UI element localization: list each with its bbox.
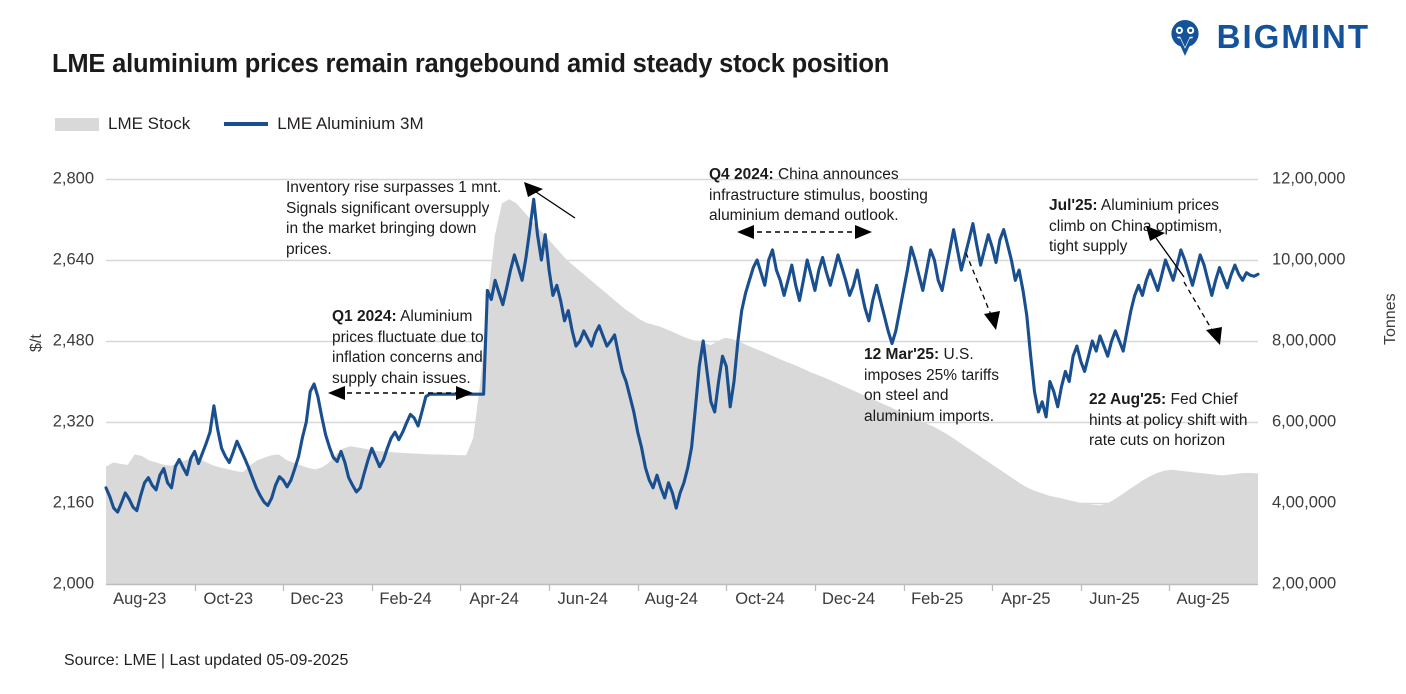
- legend-label-lme-aluminium-3m: LME Aluminium 3M: [277, 114, 423, 134]
- y-axis-right-tick-label: 12,00,000: [1272, 170, 1345, 189]
- annotation-q4-2024: Q4 2024: China announces infrastructure …: [709, 165, 979, 227]
- x-axis-tick-label: Apr-25: [1001, 590, 1051, 609]
- chart-legend: LME Stock LME Aluminium 3M: [55, 114, 424, 134]
- annotation-bold: Q1 2024:: [332, 308, 397, 325]
- legend-label-lme-stock: LME Stock: [108, 114, 190, 134]
- x-axis-tick-label: Aug-23: [113, 590, 166, 609]
- annotation-bold: 22 Aug'25:: [1089, 391, 1166, 408]
- y-axis-left-tick-label: 2,480: [24, 332, 94, 351]
- annotation-line: prices fluctuate due to: [332, 328, 522, 349]
- annotation-line: imposes 25% tariffs: [864, 366, 1039, 387]
- y-axis-left-tick-label: 2,640: [24, 251, 94, 270]
- annotation-line: rate cuts on horizon: [1089, 431, 1284, 452]
- annotation-rest: Fed Chief: [1166, 391, 1238, 408]
- x-axis-tick-label: Apr-24: [469, 590, 519, 609]
- annotation-line: Inventory rise surpasses 1 mnt.: [286, 178, 536, 199]
- x-axis-tick-label: Dec-23: [290, 590, 343, 609]
- annotation-line: aluminium imports.: [864, 407, 1039, 428]
- x-axis-tick-label: Aug-24: [645, 590, 698, 609]
- annotation-line: Q1 2024: Aluminium: [332, 307, 522, 328]
- legend-item-lme-aluminium-3m[interactable]: LME Aluminium 3M: [224, 114, 423, 134]
- x-axis-tick-label: Jun-24: [558, 590, 608, 609]
- legend-area-swatch-icon: [55, 118, 99, 131]
- x-axis-tick-label: Dec-24: [822, 590, 875, 609]
- annotation-q1-2024: Q1 2024: Aluminium prices fluctuate due …: [332, 307, 522, 389]
- annotation-rest: China announces: [774, 166, 899, 183]
- annotation-line: in the market bringing down: [286, 219, 536, 240]
- y-axis-left-tick-label: 2,320: [24, 413, 94, 432]
- legend-item-lme-stock[interactable]: LME Stock: [55, 114, 190, 134]
- x-axis-tick-label: Jun-25: [1089, 590, 1139, 609]
- annotation-line: climb on China optimism,: [1049, 217, 1264, 238]
- annotation-line: aluminium demand outlook.: [709, 206, 979, 227]
- page-title: LME aluminium prices remain rangebound a…: [52, 50, 889, 79]
- annotation-line: prices.: [286, 240, 536, 261]
- annotation-line: inflation concerns and: [332, 348, 522, 369]
- annotation-line: Jul'25: Aluminium prices: [1049, 196, 1264, 217]
- annotation-line: on steel and: [864, 386, 1039, 407]
- y-axis-right-tick-label: 8,00,000: [1272, 332, 1336, 351]
- y-axis-left-tick-label: 2,800: [24, 170, 94, 189]
- annotation-line: 22 Aug'25: Fed Chief: [1089, 390, 1284, 411]
- annotation-bold: Jul'25:: [1049, 197, 1097, 214]
- annotation-line: tight supply: [1049, 237, 1264, 258]
- x-axis-tick-label: Oct-24: [735, 590, 785, 609]
- bigmint-logo-icon: [1165, 16, 1205, 56]
- annotation-inventory-rise: Inventory rise surpasses 1 mnt. Signals …: [286, 178, 536, 260]
- annotation-mar-2025-tariffs: 12 Mar'25: U.S. imposes 25% tariffs on s…: [864, 345, 1039, 427]
- annotation-rest: Aluminium prices: [1097, 197, 1218, 214]
- legend-line-swatch-icon: [224, 122, 268, 126]
- annotation-line: Q4 2024: China announces: [709, 165, 979, 186]
- annotation-line: 12 Mar'25: U.S.: [864, 345, 1039, 366]
- brand-logo: BIGMINT: [1165, 16, 1370, 56]
- annotation-bold: Q4 2024:: [709, 166, 774, 183]
- y-axis-left-tick-label: 2,160: [24, 494, 94, 513]
- x-axis-tick-label: Oct-23: [204, 590, 254, 609]
- x-axis-tick-label: Aug-25: [1176, 590, 1229, 609]
- y-axis-right-tick-label: 2,00,000: [1272, 575, 1336, 594]
- x-axis-tick-label: Feb-24: [379, 590, 431, 609]
- annotation-rest: Aluminium: [397, 308, 473, 325]
- x-axis-tick-label: Feb-25: [911, 590, 963, 609]
- annotation-aug-2025-fed: 22 Aug'25: Fed Chief hints at policy shi…: [1089, 390, 1284, 452]
- annotation-bold: 12 Mar'25:: [864, 346, 939, 363]
- annotation-line: hints at policy shift with: [1089, 411, 1284, 432]
- y-axis-right-tick-label: 10,00,000: [1272, 251, 1345, 270]
- source-caption: Source: LME | Last updated 05-09-2025: [64, 652, 348, 670]
- annotation-line: Signals significant oversupply: [286, 199, 536, 220]
- annotation-line: infrastructure stimulus, boosting: [709, 186, 979, 207]
- y-axis-title-right: Tonnes: [1382, 293, 1400, 345]
- y-axis-left-tick-label: 2,000: [24, 575, 94, 594]
- annotation-jul-2025-china: Jul'25: Aluminium prices climb on China …: [1049, 196, 1264, 258]
- y-axis-right-tick-label: 4,00,000: [1272, 494, 1336, 513]
- brand-name: BIGMINT: [1217, 20, 1370, 53]
- annotation-rest: U.S.: [939, 346, 973, 363]
- annotation-line: supply chain issues.: [332, 369, 522, 390]
